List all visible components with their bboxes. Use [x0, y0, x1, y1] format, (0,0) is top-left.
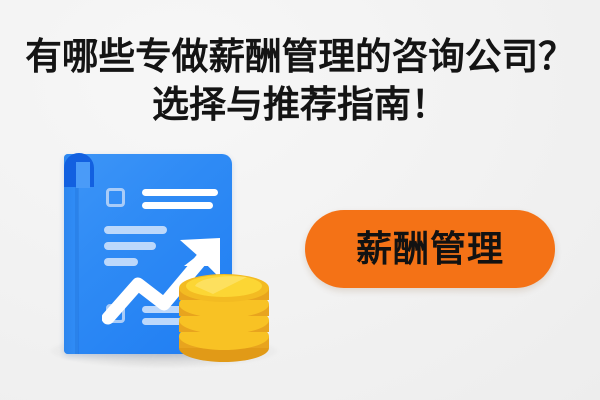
text-line-top-2 [142, 202, 213, 209]
page-title-line-1: 有哪些专做薪酬管理的咨询公司？ [3, 33, 597, 81]
document-curl-corner-icon [64, 153, 94, 187]
page-title-line-2: 选择与推荐指南！ [0, 81, 600, 129]
checkbox-icon-top [106, 188, 125, 207]
illustration [42, 142, 282, 370]
document-curl-inner [76, 162, 90, 188]
poster-canvas: 有哪些专做薪酬管理的咨询公司？ 选择与推荐指南！ [0, 0, 600, 400]
text-line-top-1 [142, 189, 218, 196]
page-title: 有哪些专做薪酬管理的咨询公司？ 选择与推荐指南！ [0, 33, 600, 129]
coin-stack-icon [175, 264, 273, 364]
tag-button-salary-management[interactable]: 薪酬管理 [305, 210, 555, 288]
tag-button-label: 薪酬管理 [356, 231, 504, 267]
